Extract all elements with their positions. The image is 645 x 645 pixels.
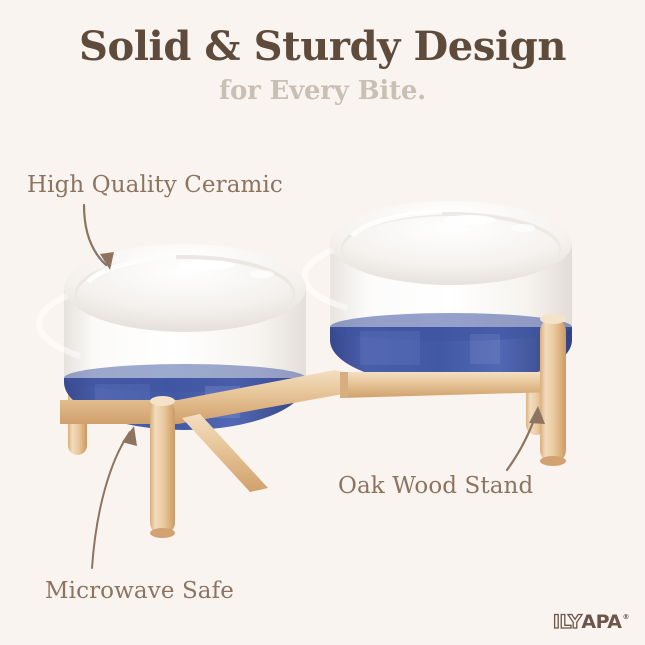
callout-label-high-quality-ceramic: High Quality Ceramic bbox=[27, 172, 283, 198]
callout-label-oak-wood-stand: Oak Wood Stand bbox=[338, 473, 533, 499]
product-image bbox=[0, 0, 645, 645]
registered-trademark-icon: ® bbox=[623, 614, 630, 621]
logo-text-solid: APA bbox=[581, 613, 621, 632]
logo-text-outline: ILY bbox=[553, 613, 581, 632]
brand-logo: ILY APA ® bbox=[553, 613, 629, 632]
infographic-canvas: Solid & Sturdy Design for Every Bite. bbox=[0, 0, 645, 645]
callout-arrow-microwave bbox=[92, 426, 137, 568]
callout-label-microwave-safe: Microwave Safe bbox=[45, 578, 234, 604]
bowl-right bbox=[305, 201, 572, 397]
